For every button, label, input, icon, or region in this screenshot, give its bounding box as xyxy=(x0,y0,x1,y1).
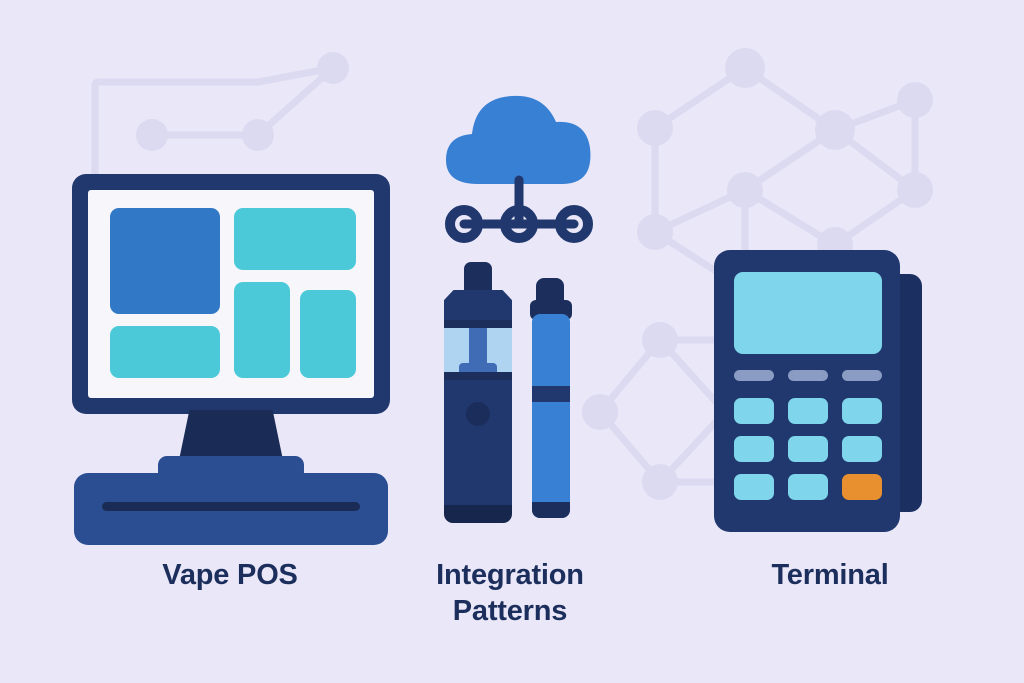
label-integration-patterns: Integration Patterns xyxy=(400,557,620,629)
ventilation-slot-icon xyxy=(102,502,360,511)
monitor-stand-neck xyxy=(179,410,283,460)
label-integration-patterns-line-1: Integration xyxy=(400,557,620,593)
screen-tile-mid-right xyxy=(234,282,290,378)
vape-devices-group[interactable] xyxy=(436,262,586,534)
screen-tile-bottom-left xyxy=(110,326,220,378)
terminal-key-5[interactable] xyxy=(788,436,828,462)
terminal-softkey-3[interactable] xyxy=(842,370,882,381)
terminal-key-8[interactable] xyxy=(788,474,828,500)
network-node xyxy=(727,172,763,208)
network-node xyxy=(897,82,933,118)
terminal-key-2[interactable] xyxy=(788,398,828,424)
network-node xyxy=(642,464,678,500)
disposable-vape-base-cap xyxy=(532,502,570,518)
network-node xyxy=(642,322,678,358)
desktop-monitor-icon[interactable] xyxy=(60,160,400,540)
label-terminal: Terminal xyxy=(680,557,980,593)
network-node xyxy=(317,52,349,84)
terminal-screen xyxy=(734,272,882,354)
network-node xyxy=(637,110,673,146)
label-vape-pos-line-1: Vape POS xyxy=(60,557,400,593)
label-integration-patterns-line-2: Patterns xyxy=(400,593,620,629)
illustration-canvas: Vape POS Integration Patterns Terminal xyxy=(0,0,1024,683)
vape-pen-body xyxy=(444,380,512,516)
network-node xyxy=(897,172,933,208)
network-node xyxy=(725,48,765,88)
network-node xyxy=(637,214,673,250)
vape-pen-fire-button[interactable] xyxy=(466,402,490,426)
network-node xyxy=(242,119,274,151)
screen-tile-primary xyxy=(110,208,220,314)
terminal-key-1[interactable] xyxy=(734,398,774,424)
terminal-key-7[interactable] xyxy=(734,474,774,500)
disposable-vape-band xyxy=(532,386,570,402)
network-node xyxy=(136,119,168,151)
vape-pen-ring-top xyxy=(444,320,512,328)
disposable-vape-body xyxy=(532,314,570,518)
cloud-network-icon[interactable] xyxy=(424,72,614,252)
terminal-key-3[interactable] xyxy=(842,398,882,424)
label-vape-pos: Vape POS xyxy=(60,557,400,593)
network-node xyxy=(815,110,855,150)
label-terminal-line-1: Terminal xyxy=(680,557,980,593)
terminal-key-6[interactable] xyxy=(842,436,882,462)
terminal-softkey-1[interactable] xyxy=(734,370,774,381)
cloud-shape xyxy=(446,96,590,184)
monitor-screen xyxy=(88,190,374,398)
terminal-enter-key[interactable] xyxy=(842,474,882,500)
network-node xyxy=(582,394,618,430)
screen-tile-top-right xyxy=(234,208,356,270)
terminal-softkey-2[interactable] xyxy=(788,370,828,381)
payment-terminal-icon[interactable] xyxy=(706,246,946,536)
terminal-key-4[interactable] xyxy=(734,436,774,462)
screen-tile-far-right xyxy=(300,290,356,378)
vape-pen-base-cap xyxy=(444,505,512,523)
